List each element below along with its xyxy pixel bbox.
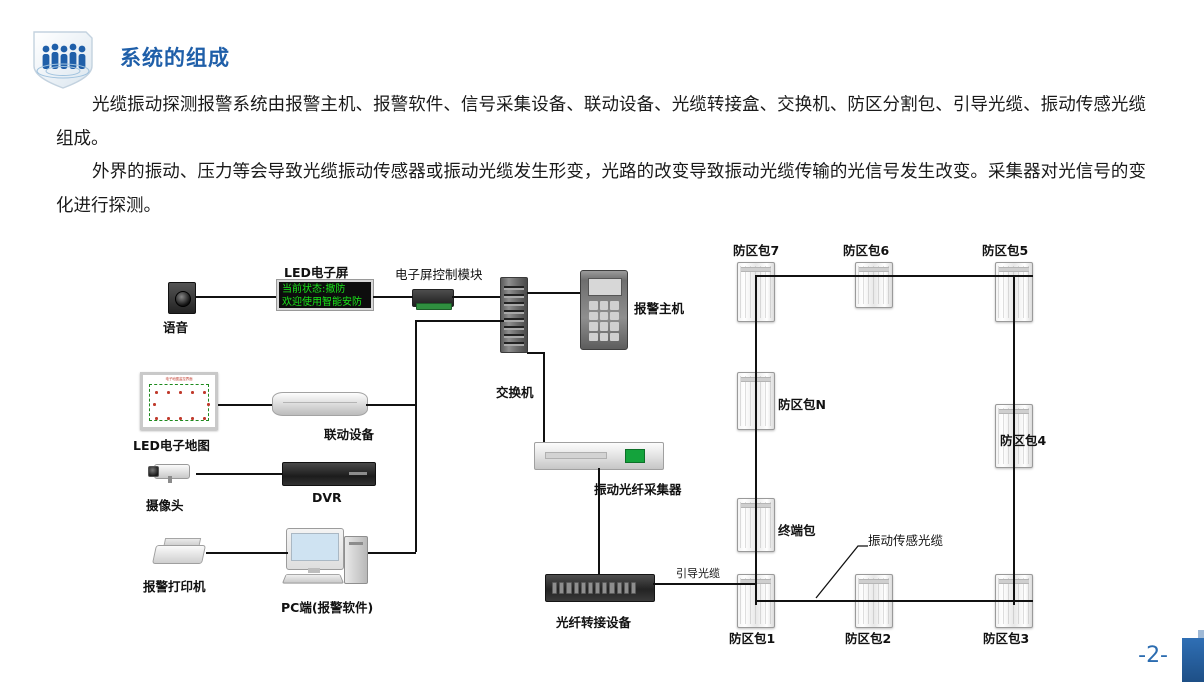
wire-camera-to-dvr [196, 473, 282, 475]
camera-device [148, 460, 194, 484]
wire-zone-left-vertical [755, 275, 757, 605]
pc-client-label: PC端(报警软件) [281, 597, 373, 616]
led-screen-title-label: LED电子屏 [284, 262, 348, 281]
wire-map-to-linkage [218, 404, 272, 406]
alarm-host-label: 报警主机 [634, 298, 684, 317]
zone-label-terminal: 终端包 [778, 520, 816, 539]
camera-label: 摄像头 [146, 495, 184, 514]
zone-label-n: 防区包N [778, 394, 826, 413]
wire-left-vertical-bus [415, 320, 417, 552]
alarm-host-device [580, 270, 628, 350]
switch-label: 交换机 [496, 382, 534, 401]
wire-zone-bottom [755, 600, 1033, 602]
alarm-printer-device [152, 536, 206, 566]
led-map-label: LED电子地图 [133, 435, 210, 454]
paragraph-2: 外界的振动、压力等会导致光缆振动传感器或振动光缆发生形变，光路的改变导致振动光缆… [56, 155, 1146, 223]
wire-linkage-to-bus [366, 404, 416, 406]
dvr-device [282, 462, 376, 486]
led-line-1: 当前状态:撤防 [282, 283, 369, 296]
sensing-cable-leader-line [810, 540, 880, 602]
led-line-2: 欢迎使用智能安防 [282, 296, 369, 309]
zone-label-5: 防区包5 [982, 240, 1028, 259]
led-display: 当前状态:撤防 欢迎使用智能安防 [277, 280, 373, 310]
wire-pc-to-bus [368, 552, 416, 554]
fiber-transfer-label: 光纤转接设备 [556, 612, 631, 631]
page-number: -2- [1138, 643, 1168, 668]
slide-page: 系统的组成 光缆振动探测报警系统由报警主机、报警软件、信号采集设备、联动设备、光… [0, 0, 1204, 682]
linkage-device-label: 联动设备 [324, 424, 374, 443]
wire-ctrl-to-switch [452, 296, 504, 298]
wire-collector-to-switch-h [527, 352, 544, 354]
zone-label-1: 防区包1 [729, 628, 775, 647]
zone-label-2: 防区包2 [845, 628, 891, 647]
zone-label-6: 防区包6 [843, 240, 889, 259]
zone-box-6 [855, 262, 893, 308]
vibration-fiber-collector-device [534, 442, 664, 470]
screen-control-module [412, 289, 454, 307]
paragraph-1: 光缆振动探测报警系统由报警主机、报警软件、信号采集设备、联动设备、光缆转接盒、交… [56, 88, 1146, 156]
wire-collector-to-fiber-v [598, 468, 600, 578]
wire-zone-right-vertical [1013, 275, 1015, 605]
dvr-label: DVR [312, 490, 342, 505]
people-group-icon [24, 26, 102, 90]
wire-guide-cable [653, 583, 755, 585]
zone-label-7: 防区包7 [733, 240, 779, 259]
wire-switch-bus-left [415, 320, 504, 322]
vibration-collector-label: 振动光纤采集器 [594, 479, 682, 498]
led-electronic-map-device: 电子地图监控界面 [140, 372, 218, 430]
alarm-printer-label: 报警打印机 [143, 576, 206, 595]
corner-decoration-line [1198, 630, 1204, 638]
voice-speaker-device [168, 282, 196, 314]
voice-label: 语音 [163, 317, 188, 336]
wire-led-to-ctrl [373, 296, 413, 298]
wire-speaker-to-led [196, 296, 276, 298]
zone-label-4: 防区包4 [1000, 430, 1046, 449]
wire-zone-top [755, 275, 1033, 277]
system-architecture-diagram: LED电子屏 电子屏控制模块 当前状态:撤防 欢迎使用智能安防 .led-scr… [0, 232, 1204, 652]
wire-switch-to-host [527, 292, 580, 294]
network-switch-device [500, 277, 528, 353]
wire-collector-to-switch-v [543, 352, 545, 442]
pc-client-device [286, 528, 378, 586]
corner-decoration [1182, 638, 1204, 682]
guide-cable-label: 引导光缆 [676, 565, 720, 581]
page-title: 系统的组成 [120, 42, 230, 72]
screen-ctrl-module-label: 电子屏控制模块 [395, 264, 483, 283]
zone-label-3: 防区包3 [983, 628, 1029, 647]
wire-printer-to-pc [206, 552, 288, 554]
linkage-device [272, 392, 368, 416]
fiber-transfer-device [545, 574, 655, 602]
